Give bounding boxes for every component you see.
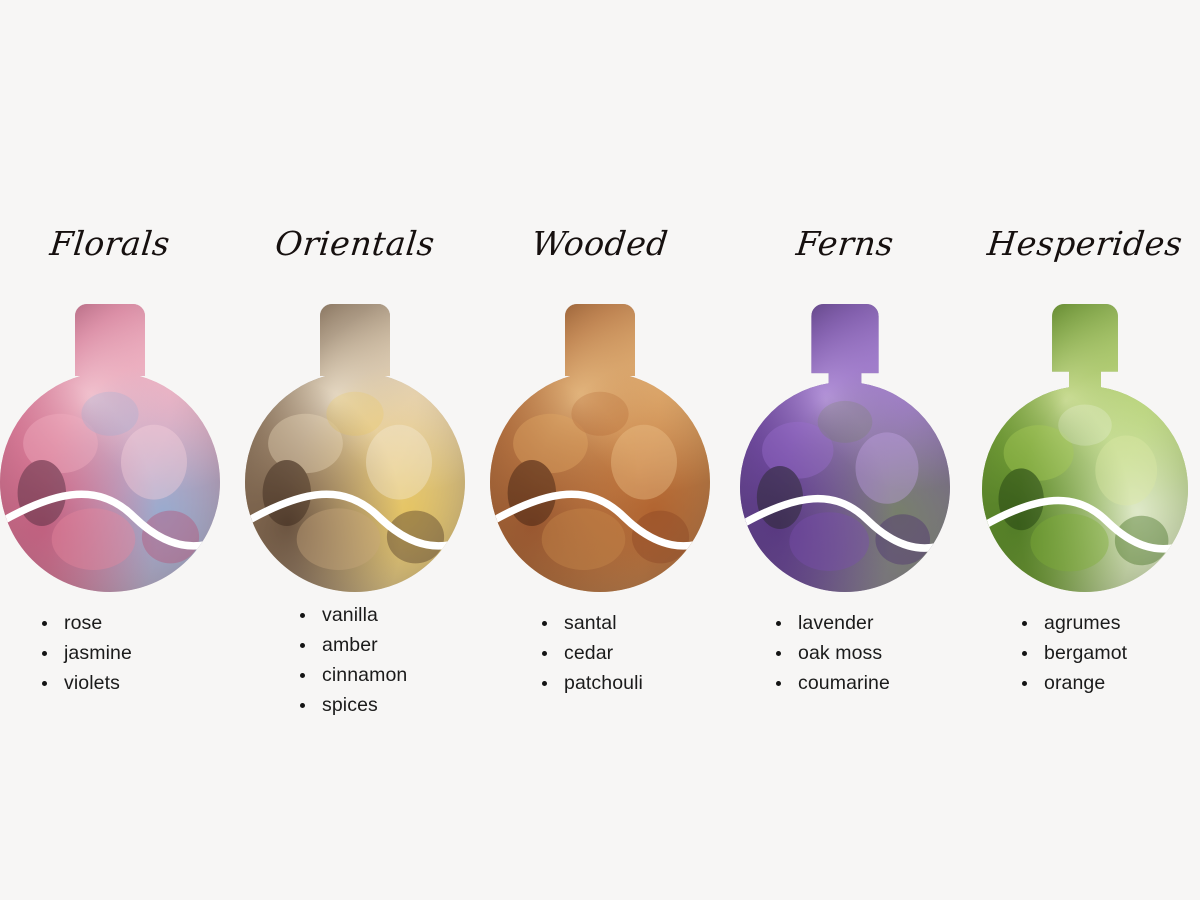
bottle-photo-fill [725, 296, 965, 596]
ingredient-item: cinnamon [296, 660, 506, 690]
perfume-bottle [0, 296, 230, 596]
ingredient-list: rosejasmineviolets [38, 608, 248, 698]
family-title: Ferns [723, 222, 968, 266]
family-title: Orientals [233, 222, 478, 266]
ingredient-item: violets [38, 668, 248, 698]
family-title: Florals [0, 222, 232, 266]
bottle-silhouette-green-bergamot-citrus-fruit-slices-photo [965, 296, 1200, 596]
fragrance-family-card-florals: Floralsrosejasmineviolets [0, 0, 230, 900]
family-title: Wooded [478, 222, 723, 266]
ingredient-item: jasmine [38, 638, 248, 668]
perfume-bottle [965, 296, 1200, 596]
ingredient-list: lavenderoak mosscoumarine [772, 608, 982, 698]
ingredient-item: lavender [772, 608, 982, 638]
fragrance-family-card-wooded: Woodedsantalcedarpatchouli [480, 0, 720, 900]
fragrance-family-card-ferns: Fernslavenderoak mosscoumarine [725, 0, 965, 900]
ingredient-item: vanilla [296, 600, 506, 630]
bottle-photo-fill [0, 296, 230, 596]
bottle-photo-fill [235, 296, 475, 596]
fragrance-family-card-hesperides: Hesperidesagrumesbergamotorange [965, 0, 1200, 900]
ingredient-item: patchouli [538, 668, 748, 698]
bottle-photo-fill [965, 296, 1200, 596]
ingredient-list: vanillaambercinnamonspices [296, 600, 506, 720]
perfume-families-infographic: FloralsrosejasminevioletsOrientalsvanill… [0, 0, 1200, 900]
bottle-silhouette-lavender-field-in-bloom-photo [725, 296, 965, 596]
perfume-bottle [725, 296, 965, 596]
ingredient-item: agrumes [1018, 608, 1200, 638]
ingredient-list: agrumesbergamotorange [1018, 608, 1200, 698]
ingredient-item: cedar [538, 638, 748, 668]
ingredient-item: amber [296, 630, 506, 660]
bottle-photo-fill [480, 296, 720, 596]
ingredient-item: spices [296, 690, 506, 720]
perfume-bottle [235, 296, 475, 596]
bottle-silhouette-pink-roses-and-blue-delphinium-bouquet-photo [0, 296, 230, 596]
ingredient-item: bergamot [1018, 638, 1200, 668]
ingredient-item: santal [538, 608, 748, 638]
ingredient-item: oak moss [772, 638, 982, 668]
family-title: Hesperides [963, 222, 1200, 266]
ingredient-list: santalcedarpatchouli [538, 608, 748, 698]
bottle-silhouette-cut-tree-trunk-growth-rings-timber-photo [480, 296, 720, 596]
perfume-bottle [480, 296, 720, 596]
fragrance-family-card-orientals: Orientalsvanillaambercinnamonspices [235, 0, 475, 900]
bottle-silhouette-vanilla-pods-and-orchid-flower-photo [235, 296, 475, 596]
ingredient-item: rose [38, 608, 248, 638]
ingredient-item: coumarine [772, 668, 982, 698]
ingredient-item: orange [1018, 668, 1200, 698]
